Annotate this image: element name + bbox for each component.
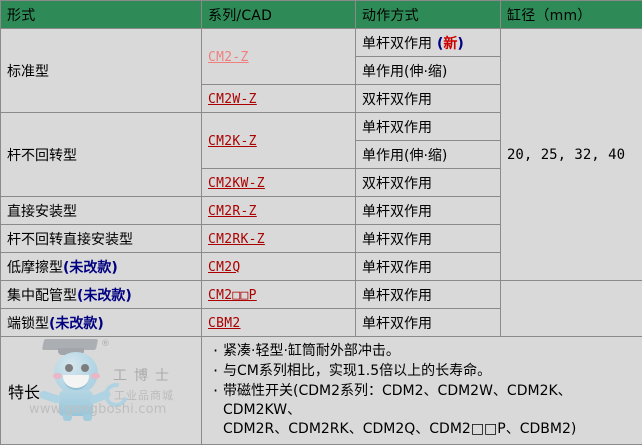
- type-cell-centralized-piping: 集中配管型(未改款): [1, 281, 202, 309]
- action-cell: 单杆双作用: [356, 197, 501, 225]
- mascot-eye-left-icon: [65, 364, 73, 372]
- action-cell: 单杆双作用: [356, 113, 501, 141]
- type-cell-end-lock: 端锁型(未改款): [1, 309, 202, 337]
- cad-link-cm2rz[interactable]: CM2R-Z: [208, 204, 257, 219]
- action-cell: 单杆双作用(新): [356, 29, 501, 57]
- registered-mark: ®: [101, 339, 110, 349]
- action-cell: 单杆双作用: [356, 225, 501, 253]
- type-label: 标准型: [7, 64, 49, 80]
- action-cell: 单杆双作用: [356, 309, 501, 337]
- cad-link-cm2z[interactable]: CM2-Z: [208, 50, 249, 65]
- action-cell: 单作用(伸·缩): [356, 141, 501, 169]
- mascot-blush-right-icon: [91, 373, 100, 379]
- type-cell-direct-mount: 直接安装型: [1, 197, 202, 225]
- action-cell: 单作用(伸·缩): [356, 57, 501, 85]
- action-cell: 单杆双作用: [356, 281, 501, 309]
- series-cell-cm2wz: CM2W-Z: [202, 85, 356, 113]
- cad-link-cm2kwz[interactable]: CM2KW-Z: [208, 176, 265, 191]
- column-header-series-cad: 系列/CAD: [202, 1, 356, 29]
- feature-body-cell: 紧凑·轻型·缸筒耐外部冲击。 与CM系列相比，实现1.5倍以上的长寿命。 带磁性…: [202, 337, 642, 445]
- series-cell-cm2kwz: CM2KW-Z: [202, 169, 356, 197]
- type-suffix-unchanged: (未改款): [77, 288, 132, 304]
- type-label: 集中配管型: [7, 288, 77, 304]
- cad-link-cbm2[interactable]: CBM2: [208, 316, 241, 331]
- feature-row: ® 工博士 工业品商城 www.gongboshi.com 特长 紧凑·轻型·缸…: [1, 337, 642, 445]
- new-badge-close: ): [457, 36, 463, 52]
- series-cell-cbm2: CBM2: [202, 309, 356, 337]
- table-row: 端锁型(未改款) CBM2 单杆双作用: [1, 309, 642, 337]
- column-header-action: 动作方式: [356, 1, 501, 29]
- mascot-blush-left-icon: [53, 373, 62, 379]
- feature-label: 特长: [8, 379, 40, 403]
- type-cell-standard: 标准型: [1, 29, 202, 113]
- list-item: 带磁性开关(CDM2系列：CDM2、CDM2W、CDM2K、CDM2KW、 CD…: [212, 382, 636, 439]
- type-label: 直接安装型: [7, 204, 77, 220]
- cad-link-cm2kz[interactable]: CM2K-Z: [208, 134, 257, 149]
- bore-value: 20, 25, 32, 40: [507, 147, 625, 163]
- action-cell: 双杆双作用: [356, 85, 501, 113]
- type-label: 端锁型: [7, 316, 49, 332]
- new-badge-text: 新: [443, 36, 457, 52]
- list-item: 紧凑·轻型·缸筒耐外部冲击。: [212, 342, 636, 361]
- cad-link-cm2p[interactable]: CM2□□P: [208, 288, 257, 303]
- series-cell-cm2z: CM2-Z: [202, 29, 356, 85]
- type-label: 低摩擦型: [7, 260, 63, 276]
- feature-label-cell: ® 工博士 工业品商城 www.gongboshi.com 特长: [1, 337, 202, 445]
- table-body: 标准型 CM2-Z 单杆双作用(新) 20, 25, 32, 40 单作用(伸·…: [1, 29, 642, 445]
- series-cell-cm2rz: CM2R-Z: [202, 197, 356, 225]
- series-cell-cm2kz: CM2K-Z: [202, 113, 356, 169]
- type-cell-low-friction: 低摩擦型(未改款): [1, 253, 202, 281]
- action-label: 单杆双作用: [362, 36, 432, 52]
- watermark-subtitle: 工业品商城: [114, 387, 174, 403]
- type-cell-non-rotating: 杆不回转型: [1, 113, 202, 197]
- type-suffix-unchanged: (未改款): [63, 260, 118, 276]
- series-cell-cm2rkz: CM2RK-Z: [202, 225, 356, 253]
- column-header-type: 形式: [1, 1, 202, 29]
- new-badge: (新): [437, 36, 464, 52]
- bore-cell: 20, 25, 32, 40: [501, 29, 642, 281]
- cad-link-cm2wz[interactable]: CM2W-Z: [208, 92, 257, 107]
- type-label: 杆不回转型: [7, 148, 77, 164]
- mascot-eye-right-icon: [81, 364, 89, 372]
- watermark-url: www.gongboshi.com: [29, 402, 167, 417]
- table-row: 标准型 CM2-Z 单杆双作用(新) 20, 25, 32, 40: [1, 29, 642, 57]
- type-label: 杆不回转直接安装型: [7, 232, 133, 248]
- feature-list: 紧凑·轻型·缸筒耐外部冲击。 与CM系列相比，实现1.5倍以上的长寿命。 带磁性…: [212, 342, 636, 439]
- table-row: 集中配管型(未改款) CM2□□P 单杆双作用: [1, 281, 642, 309]
- list-item: 与CM系列相比，实现1.5倍以上的长寿命。: [212, 362, 636, 381]
- cylinder-spec-table: 形式 系列/CAD 动作方式 缸径（mm） 标准型 CM2-Z 单杆双作用(新)…: [0, 0, 642, 445]
- cad-link-cm2rkz[interactable]: CM2RK-Z: [208, 232, 265, 247]
- series-cell-cm2q: CM2Q: [202, 253, 356, 281]
- watermark-brand: 工博士: [113, 365, 176, 385]
- action-cell: 双杆双作用: [356, 169, 501, 197]
- series-cell-cm2p: CM2□□P: [202, 281, 356, 309]
- table-header-row: 形式 系列/CAD 动作方式 缸径（mm）: [1, 1, 642, 29]
- cad-link-cm2q[interactable]: CM2Q: [208, 260, 241, 275]
- type-cell-non-rotating-direct-mount: 杆不回转直接安装型: [1, 225, 202, 253]
- action-cell: 单杆双作用: [356, 253, 501, 281]
- column-header-bore: 缸径（mm）: [501, 1, 642, 29]
- type-suffix-unchanged: (未改款): [49, 316, 104, 332]
